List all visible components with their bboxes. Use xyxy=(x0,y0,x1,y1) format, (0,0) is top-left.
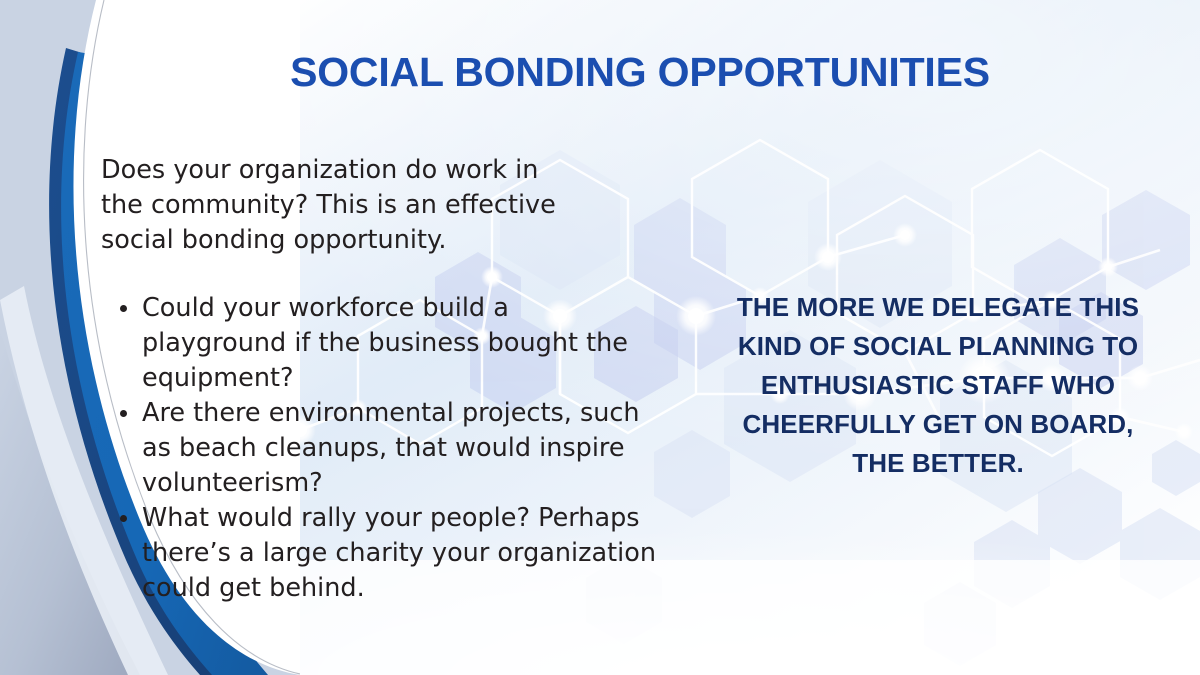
pull-quote-line: THE MORE WE DELEGATE THIS xyxy=(700,288,1176,327)
pull-quote-line: ENTHUSIASTIC STAFF WHO xyxy=(700,366,1176,405)
bullet-dot-icon xyxy=(120,305,127,312)
list-item-label: Are there environmental projects, such a… xyxy=(142,398,640,498)
intro-paragraph: Does your organization do work in the co… xyxy=(101,153,576,258)
bullet-list: Could your workforce build a playground … xyxy=(101,291,661,606)
list-item-label: Could your workforce build a playground … xyxy=(142,293,628,393)
list-item: Are there environmental projects, such a… xyxy=(101,396,661,501)
slide-canvas: SOCIAL BONDING OPPORTUNITIES Does your o… xyxy=(0,0,1200,675)
list-item: Could your workforce build a playground … xyxy=(101,291,661,396)
slide-content: SOCIAL BONDING OPPORTUNITIES Does your o… xyxy=(0,0,1200,675)
bullet-dot-icon xyxy=(120,410,127,417)
pull-quote: THE MORE WE DELEGATE THIS KIND OF SOCIAL… xyxy=(700,288,1176,483)
page-title: SOCIAL BONDING OPPORTUNITIES xyxy=(180,50,1100,95)
pull-quote-line: KIND OF SOCIAL PLANNING TO xyxy=(700,327,1176,366)
pull-quote-line: THE BETTER. xyxy=(700,444,1176,483)
list-item: What would rally your people? Perhaps th… xyxy=(101,501,661,606)
list-item-label: What would rally your people? Perhaps th… xyxy=(142,503,656,603)
bullet-dot-icon xyxy=(120,515,127,522)
pull-quote-line: CHEERFULLY GET ON BOARD, xyxy=(700,405,1176,444)
